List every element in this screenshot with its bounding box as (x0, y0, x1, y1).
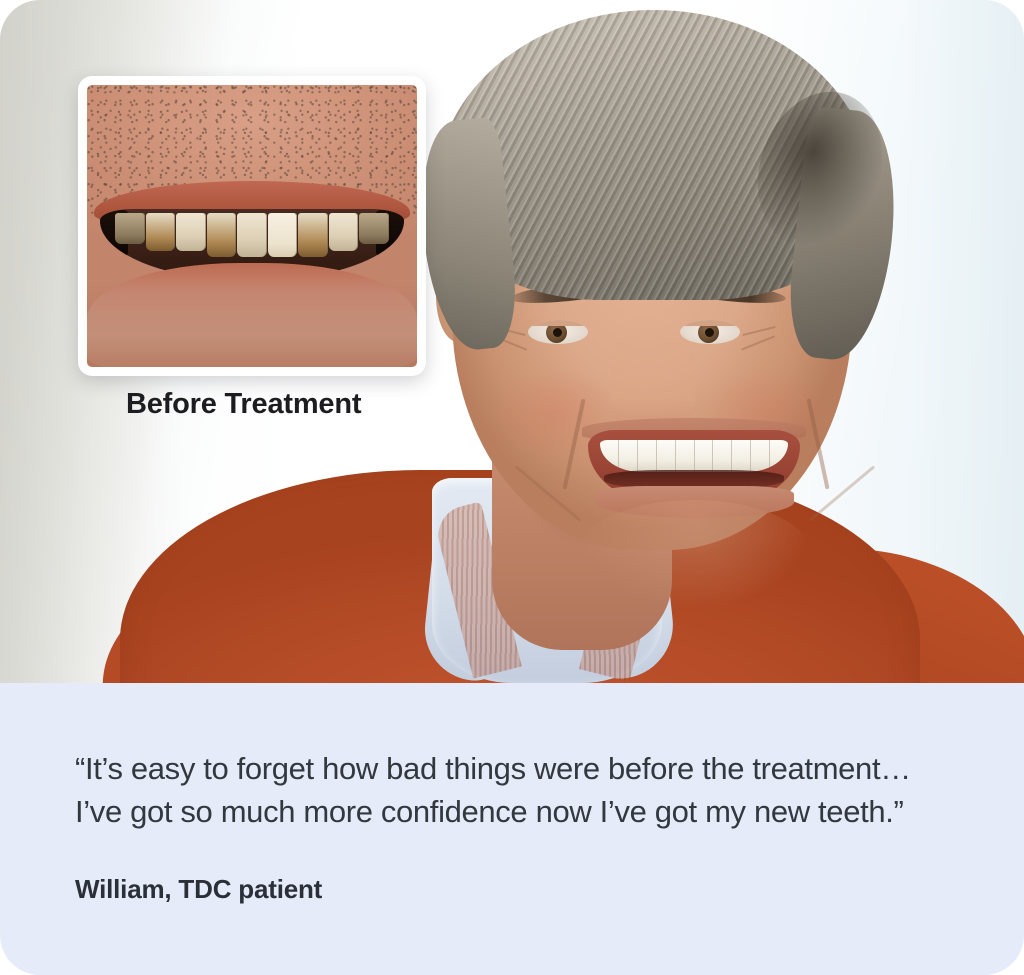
quote-text: “It’s easy to forget how bad things were… (75, 748, 954, 834)
quote-attribution: William, TDC patient (75, 874, 954, 905)
pupil-right (705, 328, 714, 337)
before-tooth (115, 213, 144, 244)
chin (576, 500, 812, 610)
tooth (695, 440, 714, 472)
eyelid-right (680, 320, 740, 326)
eye-left (528, 320, 588, 344)
testimonial-quote-panel: “It’s easy to forget how bad things were… (0, 683, 1024, 975)
before-tooth (329, 213, 358, 251)
before-tooth (237, 213, 266, 257)
tooth (600, 440, 619, 472)
tooth (713, 440, 732, 472)
before-tooth (146, 213, 175, 251)
tooth (657, 440, 676, 472)
tooth (676, 440, 695, 472)
tooth (732, 440, 751, 472)
tooth (751, 440, 770, 472)
eyelid-left (528, 320, 588, 326)
before-tooth (298, 213, 327, 257)
before-teeth (115, 213, 388, 257)
testimonial-card: Before Treatment “It’s easy to forget ho… (0, 0, 1024, 975)
tooth (638, 440, 657, 472)
quote-line-2: I’ve got so much more confidence now I’v… (75, 794, 903, 829)
before-tooth (176, 213, 205, 251)
jaw-line-right (809, 465, 875, 521)
quote-line-1: “It’s easy to forget how bad things were… (75, 751, 911, 786)
before-treatment-label: Before Treatment (126, 388, 361, 421)
before-photo-image (87, 85, 417, 367)
before-chin-shading (87, 282, 417, 367)
tooth (770, 440, 788, 472)
eye-right (680, 320, 740, 344)
tooth (619, 440, 638, 472)
teeth-after (600, 440, 788, 472)
before-tooth (207, 213, 236, 257)
before-photo-frame (78, 76, 426, 376)
before-tooth (268, 213, 297, 257)
patient-after-photo: Before Treatment (0, 0, 1024, 683)
pupil-left (553, 328, 562, 337)
before-tooth (359, 213, 388, 244)
